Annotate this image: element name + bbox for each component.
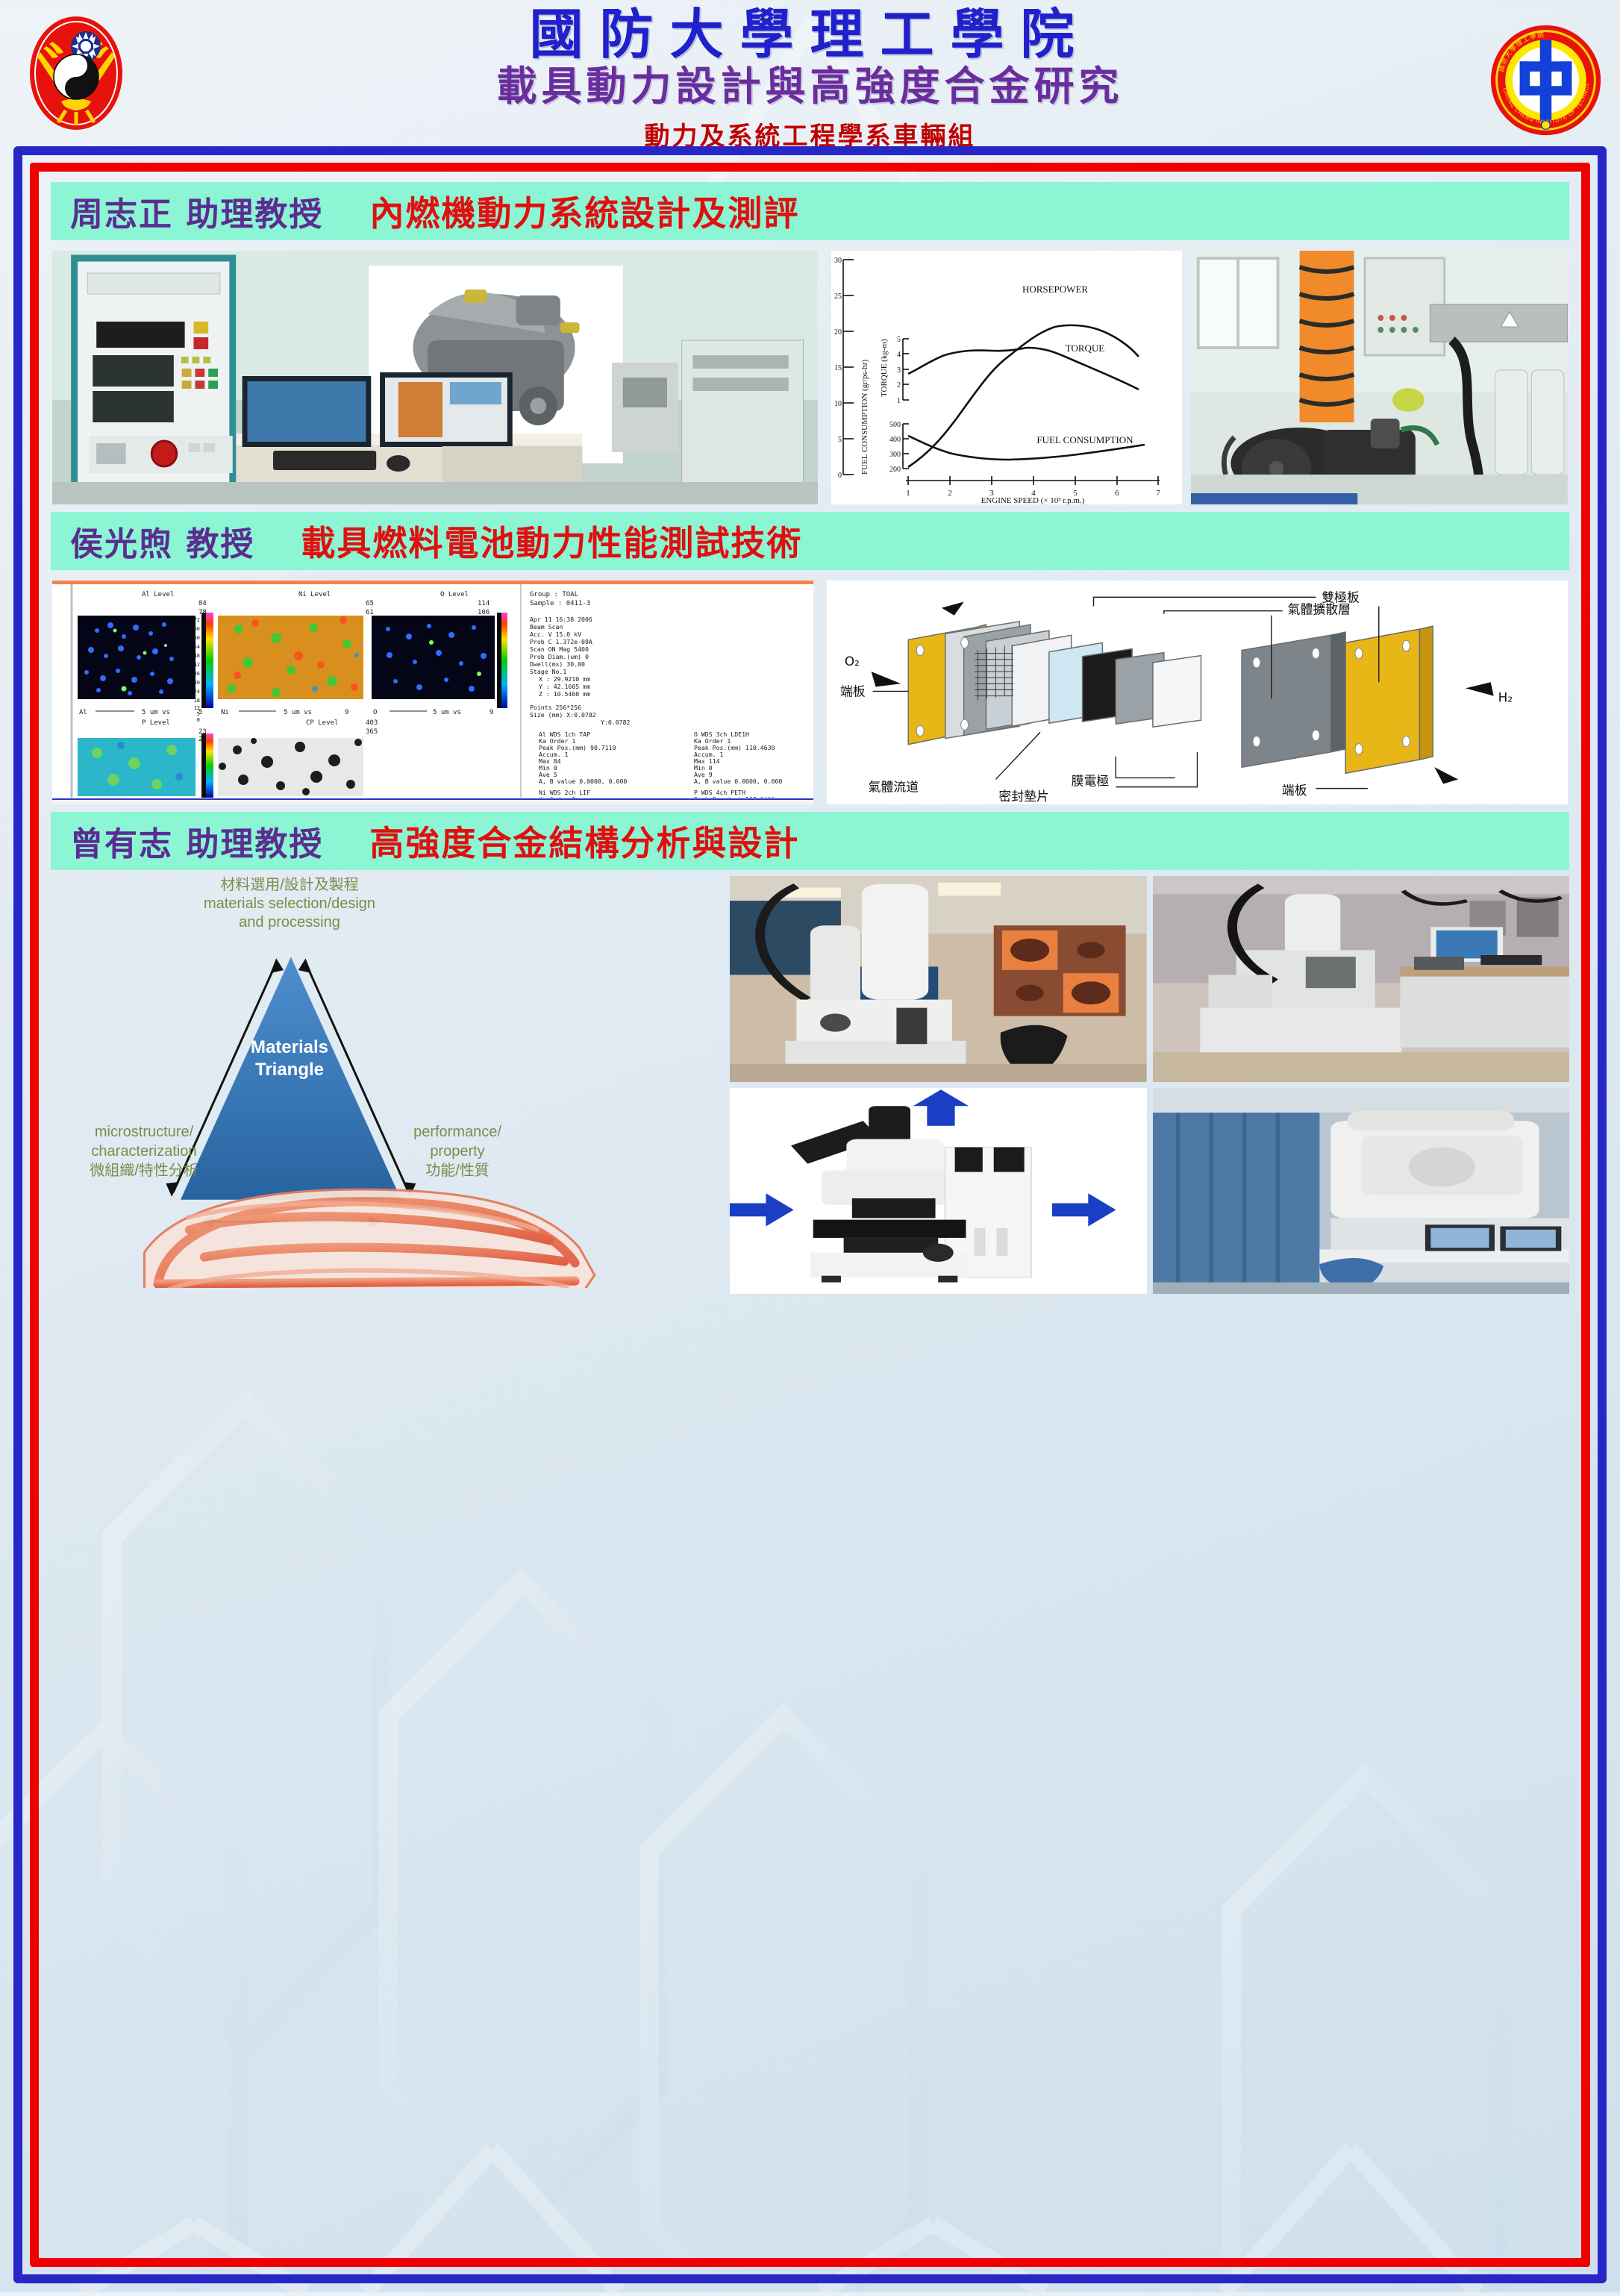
membrane-electrode-label: 膜電極 [1072,774,1110,789]
section-3-photo-row-top [730,876,1569,1082]
svg-text:A, B value 0.0000, 0.000: A, B value 0.0000, 0.000 [539,778,627,785]
epma-elemental-map-screenshot: Al Level Ni Level O Level Group : TOAL S… [52,581,813,804]
oxygen-inlet-label: O₂ [845,654,860,669]
svg-text:FUEL CONSUMPTION: FUEL CONSUMPTION [1037,434,1134,445]
svg-text:2: 2 [897,381,901,390]
svg-text:5 um vs: 5 um vs [142,709,170,716]
svg-text:9: 9 [490,709,493,716]
triangle-left-en1: microstructure/ [58,1122,230,1142]
section-2-body: Al Level Ni Level O Level Group : TOAL S… [51,570,1569,807]
svg-text:HORSEPOWER: HORSEPOWER [1022,284,1088,295]
svg-text:300: 300 [889,451,901,459]
svg-text:Dwell(ms) 30.00: Dwell(ms) 30.00 [530,660,585,668]
svg-text:A, B value 0.0000, 0.000: A, B value 0.0000, 0.000 [694,778,782,785]
svg-text:Stage No.1: Stage No.1 [530,668,566,675]
svg-text:84: 84 [198,600,207,607]
svg-text:Y:0.0782: Y:0.0782 [601,719,631,726]
svg-text:Points 256*256: Points 256*256 [530,704,581,711]
engine-performance-chart: 30 25 20 15 10 5 0 FUEL CONSUMPTION (gr/… [831,251,1182,504]
section-fuel-cell: 侯光煦 教授 載具燃料電池動力性能測試技術 Al Level Ni Level … [51,512,1569,807]
section-1-topic: 內燃機動力系統設計及測評 [369,187,799,236]
svg-text:5 um vs: 5 um vs [284,709,312,716]
svg-text:25: 25 [834,293,842,301]
svg-text:Scan ON Mag 5400: Scan ON Mag 5400 [530,645,589,653]
end-plate-label-right: 端板 [1282,783,1307,798]
svg-text:114: 114 [478,600,490,607]
gasket-label: 密封墊片 [998,789,1049,804]
svg-text:P Level: P Level [142,719,170,727]
svg-text:Z : 10.5460 mm: Z : 10.5460 mm [539,690,590,698]
roc-military-emblem [16,13,136,133]
svg-text:0: 0 [197,717,200,723]
svg-text:Prob Diam.(um) 0: Prob Diam.(um) 0 [530,653,589,660]
section-2-topic: 載具燃料電池動力性能測試技術 [301,516,802,566]
hydrogen-inlet-label: H₂ [1498,691,1513,706]
svg-text:200: 200 [889,466,901,474]
svg-text:61: 61 [366,609,374,616]
gas-diffusion-layer-label: 氣體擴散層 [1288,603,1351,618]
section-1-body: 30 25 20 15 10 5 0 FUEL CONSUMPTION (gr/… [51,240,1569,507]
engine-dynamometer-photo [1191,251,1568,504]
svg-text:1: 1 [906,489,910,498]
svg-text:3: 3 [897,366,901,375]
svg-text:24: 24 [194,689,200,695]
svg-text:Prob C 1.372e-08A: Prob C 1.372e-08A [530,638,592,645]
svg-text:Al: Al [79,709,87,716]
svg-text:36: 36 [194,671,200,677]
svg-text:ENGINE SPEED (× 10³ r.p.m.): ENGINE SPEED (× 10³ r.p.m.) [981,496,1085,504]
poster-inner-frame: 周志正 助理教授 內燃機動力系統設計及測評 [30,163,1590,2267]
svg-text:Ni: Ni [221,709,229,716]
svg-text:Size (mm) X:0.0782: Size (mm) X:0.0782 [530,711,596,719]
section-3-header: 曾有志 助理教授 高強度合金結構分析與設計 [51,812,1569,870]
section-3-photo-grid [730,876,1569,1288]
svg-text:O Level: O Level [440,591,469,598]
optical-microscope-photo [730,1088,1147,1294]
section-2-professor: 侯光煦 教授 [70,517,254,565]
svg-text:FUEL CONSUMPTION (gr/ps-hr): FUEL CONSUMPTION (gr/ps-hr) [860,359,869,475]
svg-text:5: 5 [897,336,901,344]
sem-lab-photo-2 [1153,876,1570,1082]
svg-text:4: 4 [897,351,901,359]
triangle-right-en2: property [372,1142,543,1161]
section-3-body: 材料選用/設計及製程 materials selection/design an… [51,870,1569,1288]
svg-text:10: 10 [834,400,842,408]
poster-title: 載具動力設計與高強度合金研究 [0,66,1620,108]
svg-text:30: 30 [194,680,200,686]
svg-text:403: 403 [366,719,378,727]
svg-text:Apr 11 16:38 2006: Apr 11 16:38 2006 [530,616,592,623]
triangle-left-cn: 微組織/特性分析 [58,1161,230,1180]
svg-text:48: 48 [194,653,200,659]
svg-text:X : 29.9210 mm: X : 29.9210 mm [539,675,590,683]
svg-text:18: 18 [194,698,200,704]
gas-flow-channel-label: 氣體流道 [869,781,919,795]
ccit-emblem: 國防大學理工學院 CHUNG CHENG INSTITUTE OF TECHNO… [1488,22,1604,138]
triangle-center-line2: Triangle [222,1059,357,1081]
header-text-block: 國防大學理工學院 載具動力設計與高強度合金研究 動力及系統工程學系車輛組 [0,0,1620,152]
svg-text:20: 20 [834,328,842,337]
svg-text:15: 15 [834,364,842,372]
sem-lab-photo-1 [730,876,1147,1082]
svg-text:Group : TOAL: Group : TOAL [530,591,578,598]
svg-text:54: 54 [194,644,200,650]
svg-text:TORQUE (kg-m): TORQUE (kg-m) [880,339,889,397]
svg-text:5: 5 [198,709,202,716]
svg-text:6: 6 [1115,489,1119,498]
svg-text:Beam Scan: Beam Scan [530,623,563,631]
svg-text:66: 66 [194,626,200,632]
materials-triangle-right-label: performance/ property 功能/性質 [372,1122,543,1180]
svg-text:TORQUE: TORQUE [1066,342,1105,354]
section-3-topic: 高強度合金結構分析與設計 [369,816,799,866]
section-internal-combustion: 周志正 助理教授 內燃機動力系統設計及測評 [51,182,1569,507]
svg-text:5: 5 [838,436,842,444]
svg-text:42: 42 [194,662,200,668]
section-high-strength-alloy: 曾有志 助理教授 高強度合金結構分析與設計 材料選用/設計及製程 materia… [51,812,1569,2247]
section-2-header: 侯光煦 教授 載具燃料電池動力性能測試技術 [51,512,1569,570]
svg-text:7: 7 [1156,489,1160,498]
svg-text:72: 72 [194,617,200,623]
svg-text:5 um vs: 5 um vs [433,709,461,716]
svg-text:Ni Level: Ni Level [298,591,331,598]
svg-text:Acc. V 15.0 kV: Acc. V 15.0 kV [530,631,581,638]
triangle-center-line1: Materials [222,1036,357,1059]
section-1-right-column: 30 25 20 15 10 5 0 FUEL CONSUMPTION (gr/… [831,251,1568,504]
section-1-professor: 周志正 助理教授 [70,187,323,235]
svg-text:Y : 42.1605 mm: Y : 42.1605 mm [539,683,590,690]
svg-text:30: 30 [834,257,842,265]
section-3-photo-row-bottom [730,1088,1569,1294]
poster-outer-frame: 周志正 助理教授 內燃機動力系統設計及測評 [13,146,1607,2283]
engine-test-cell-photo [52,251,818,504]
triangle-left-en2: characterization [58,1142,230,1161]
svg-text:Sample : 0411-3: Sample : 0411-3 [530,600,590,607]
section-3-professor: 曾有志 助理教授 [70,817,323,865]
svg-text:9: 9 [345,709,348,716]
triangle-right-en1: performance/ [372,1122,543,1142]
materials-triangle-center-label: Materials Triangle [222,1036,357,1081]
svg-text:500: 500 [889,421,901,429]
poster-header: 國防大學理工學院 載具動力設計與高強度合金研究 動力及系統工程學系車輛組 [0,0,1620,149]
materials-triangle-column: 材料選用/設計及製程 materials selection/design an… [51,876,722,1288]
materials-triangle-diagram [51,876,722,1288]
svg-text:Al Level: Al Level [142,591,174,598]
triangle-right-cn: 功能/性質 [372,1161,543,1180]
xrd-equipment-photo [1153,1088,1570,1294]
svg-text:CP Level: CP Level [306,719,338,727]
fuel-cell-exploded-diagram: 雙極板 氣體擴散層 膜電極 密封墊片 氣體流道 端板 端板 O₂ H₂ [827,581,1568,804]
svg-text:106: 106 [478,609,490,616]
svg-text:2: 2 [948,489,952,498]
section-1-header: 周志正 助理教授 內燃機動力系統設計及測評 [51,182,1569,240]
university-title: 國防大學理工學院 [0,7,1620,61]
svg-text:O: O [373,709,377,716]
svg-text:0: 0 [838,472,842,480]
end-plate-label-left: 端板 [840,684,866,699]
svg-text:1: 1 [897,397,901,405]
svg-text:400: 400 [889,436,901,444]
svg-text:365: 365 [366,728,378,736]
svg-text:65: 65 [366,600,374,607]
svg-text:60: 60 [194,635,200,641]
materials-triangle-left-label: microstructure/ characterization 微組織/特性分… [58,1122,230,1180]
